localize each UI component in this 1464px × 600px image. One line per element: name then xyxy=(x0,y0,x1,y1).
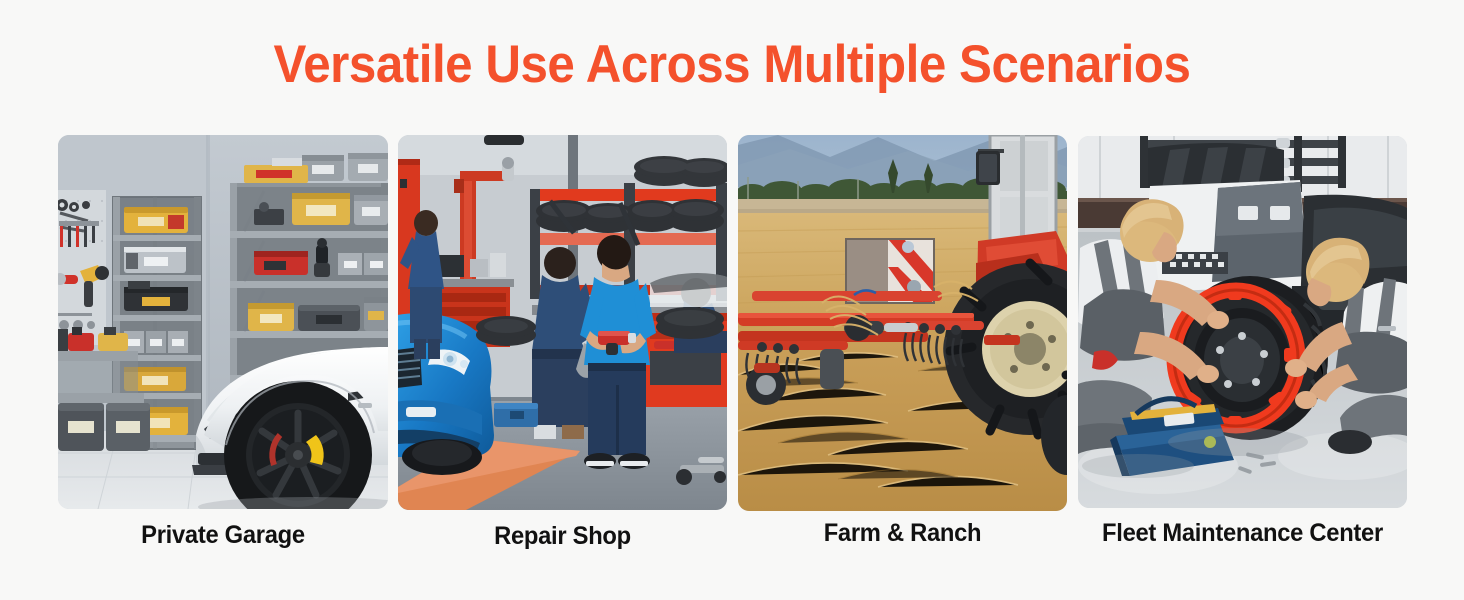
card-caption-private-garage: Private Garage xyxy=(66,520,380,550)
card-caption-repair-shop: Repair Shop xyxy=(406,521,719,551)
farm-ranch-image xyxy=(738,135,1067,511)
page-title: Versatile Use Across Multiple Scenarios xyxy=(51,36,1413,94)
card-caption-farm-ranch: Farm & Ranch xyxy=(746,518,1059,548)
fleet-maintenance-center-image xyxy=(1078,136,1407,508)
scenario-card-grid: Private Garage xyxy=(58,135,1407,559)
card-caption-fleet-maintenance-center: Fleet Maintenance Center xyxy=(1086,518,1399,548)
scenarios-section: Versatile Use Across Multiple Scenarios xyxy=(0,0,1464,600)
private-garage-image xyxy=(58,135,388,509)
repair-shop-image xyxy=(398,135,727,510)
